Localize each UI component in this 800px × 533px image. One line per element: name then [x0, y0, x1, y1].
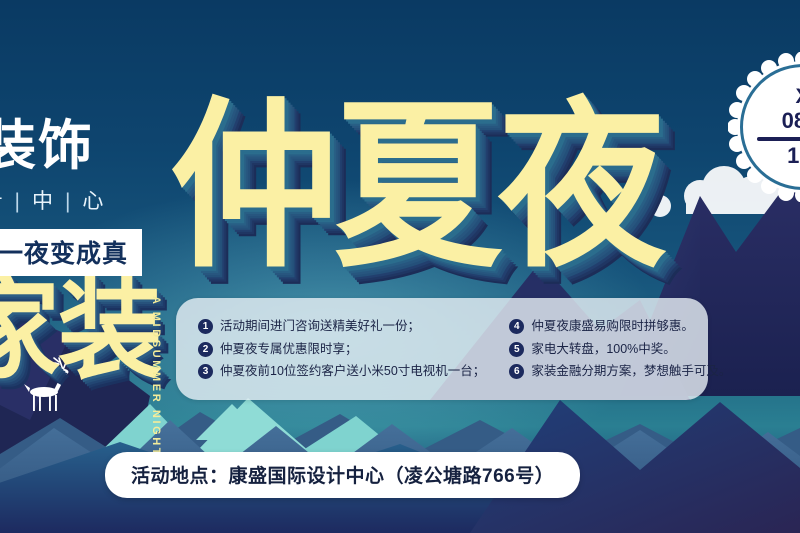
promo-item: 5 家电大转盘，100%中奖。	[509, 340, 731, 359]
promo-number: 3	[198, 364, 213, 379]
promo-number: 1	[198, 319, 213, 334]
promo-number: 6	[509, 364, 524, 379]
brand-sub-divider-3: |	[64, 190, 81, 213]
badge-divider	[757, 137, 800, 141]
promo-column-left: 1 活动期间进门咨询送精美好礼一份； 2 仲夏夜专属优惠限时享； 3 仲夏夜前1…	[176, 313, 485, 385]
promo-info-card: 1 活动期间进门咨询送精美好礼一份； 2 仲夏夜专属优惠限时享； 3 仲夏夜前1…	[176, 298, 708, 400]
promo-item: 6 家装金融分期方案，梦想触手可及。	[509, 362, 731, 381]
badge-date: 08/2	[782, 109, 800, 133]
brand-sub-char-4: 心	[81, 190, 114, 213]
promo-text: 活动期间进门咨询送精美好礼一份；	[220, 317, 420, 336]
promo-item: 4 仲夏夜康盛易购限时拼够惠。	[509, 317, 731, 336]
badge-time: 18:	[787, 144, 800, 168]
promo-text: 家电大转盘，100%中奖。	[531, 340, 675, 359]
promo-text: 仲夏夜前10位签约客户送小米50寸电视机一台；	[220, 362, 485, 381]
headline-secondary: 家装	[0, 276, 160, 386]
promo-item: 2 仲夏夜专属优惠限时享；	[198, 340, 485, 359]
headline-main: 仲夏夜	[170, 96, 662, 277]
date-badge: X 08/2 18:	[728, 52, 800, 202]
badge-top-label: X	[795, 86, 800, 109]
brand-sub-char-3: 中	[31, 190, 64, 213]
brand-sub-char-2: 計	[0, 190, 13, 213]
brand-block: 盛装饰 設|計|中|心 装梦 一夜变成真	[0, 118, 196, 276]
promo-item: 1 活动期间进门咨询送精美好礼一份；	[198, 317, 485, 336]
promo-number: 2	[198, 342, 213, 357]
promo-number: 4	[509, 319, 524, 334]
brand-name: 盛装饰	[0, 118, 196, 175]
brand-slogan: 装梦 一夜变成真	[0, 229, 142, 276]
promo-text: 仲夏夜康盛易购限时拼够惠。	[531, 317, 694, 336]
promo-column-right: 4 仲夏夜康盛易购限时拼够惠。 5 家电大转盘，100%中奖。 6 家装金融分期…	[485, 313, 731, 385]
brand-subtitle: 設|計|中|心	[0, 185, 196, 215]
brand-sub-divider-2: |	[13, 190, 30, 213]
promo-item: 3 仲夏夜前10位签约客户送小米50寸电视机一台；	[198, 362, 485, 381]
promo-poster: 仲夏夜 家装 盛装饰 設|計|中|心 装梦 一夜变成真 A MIDSUMMER …	[0, 0, 800, 533]
vertical-english-caption: A MIDSUMMER NIGHT	[150, 296, 162, 457]
promo-text: 仲夏夜专属优惠限时享；	[220, 340, 358, 359]
promo-text: 家装金融分期方案，梦想触手可及。	[531, 362, 731, 381]
promo-number: 5	[509, 342, 524, 357]
event-address-pill: 活动地点：康盛国际设计中心（凌公塘路766号）	[105, 452, 580, 498]
